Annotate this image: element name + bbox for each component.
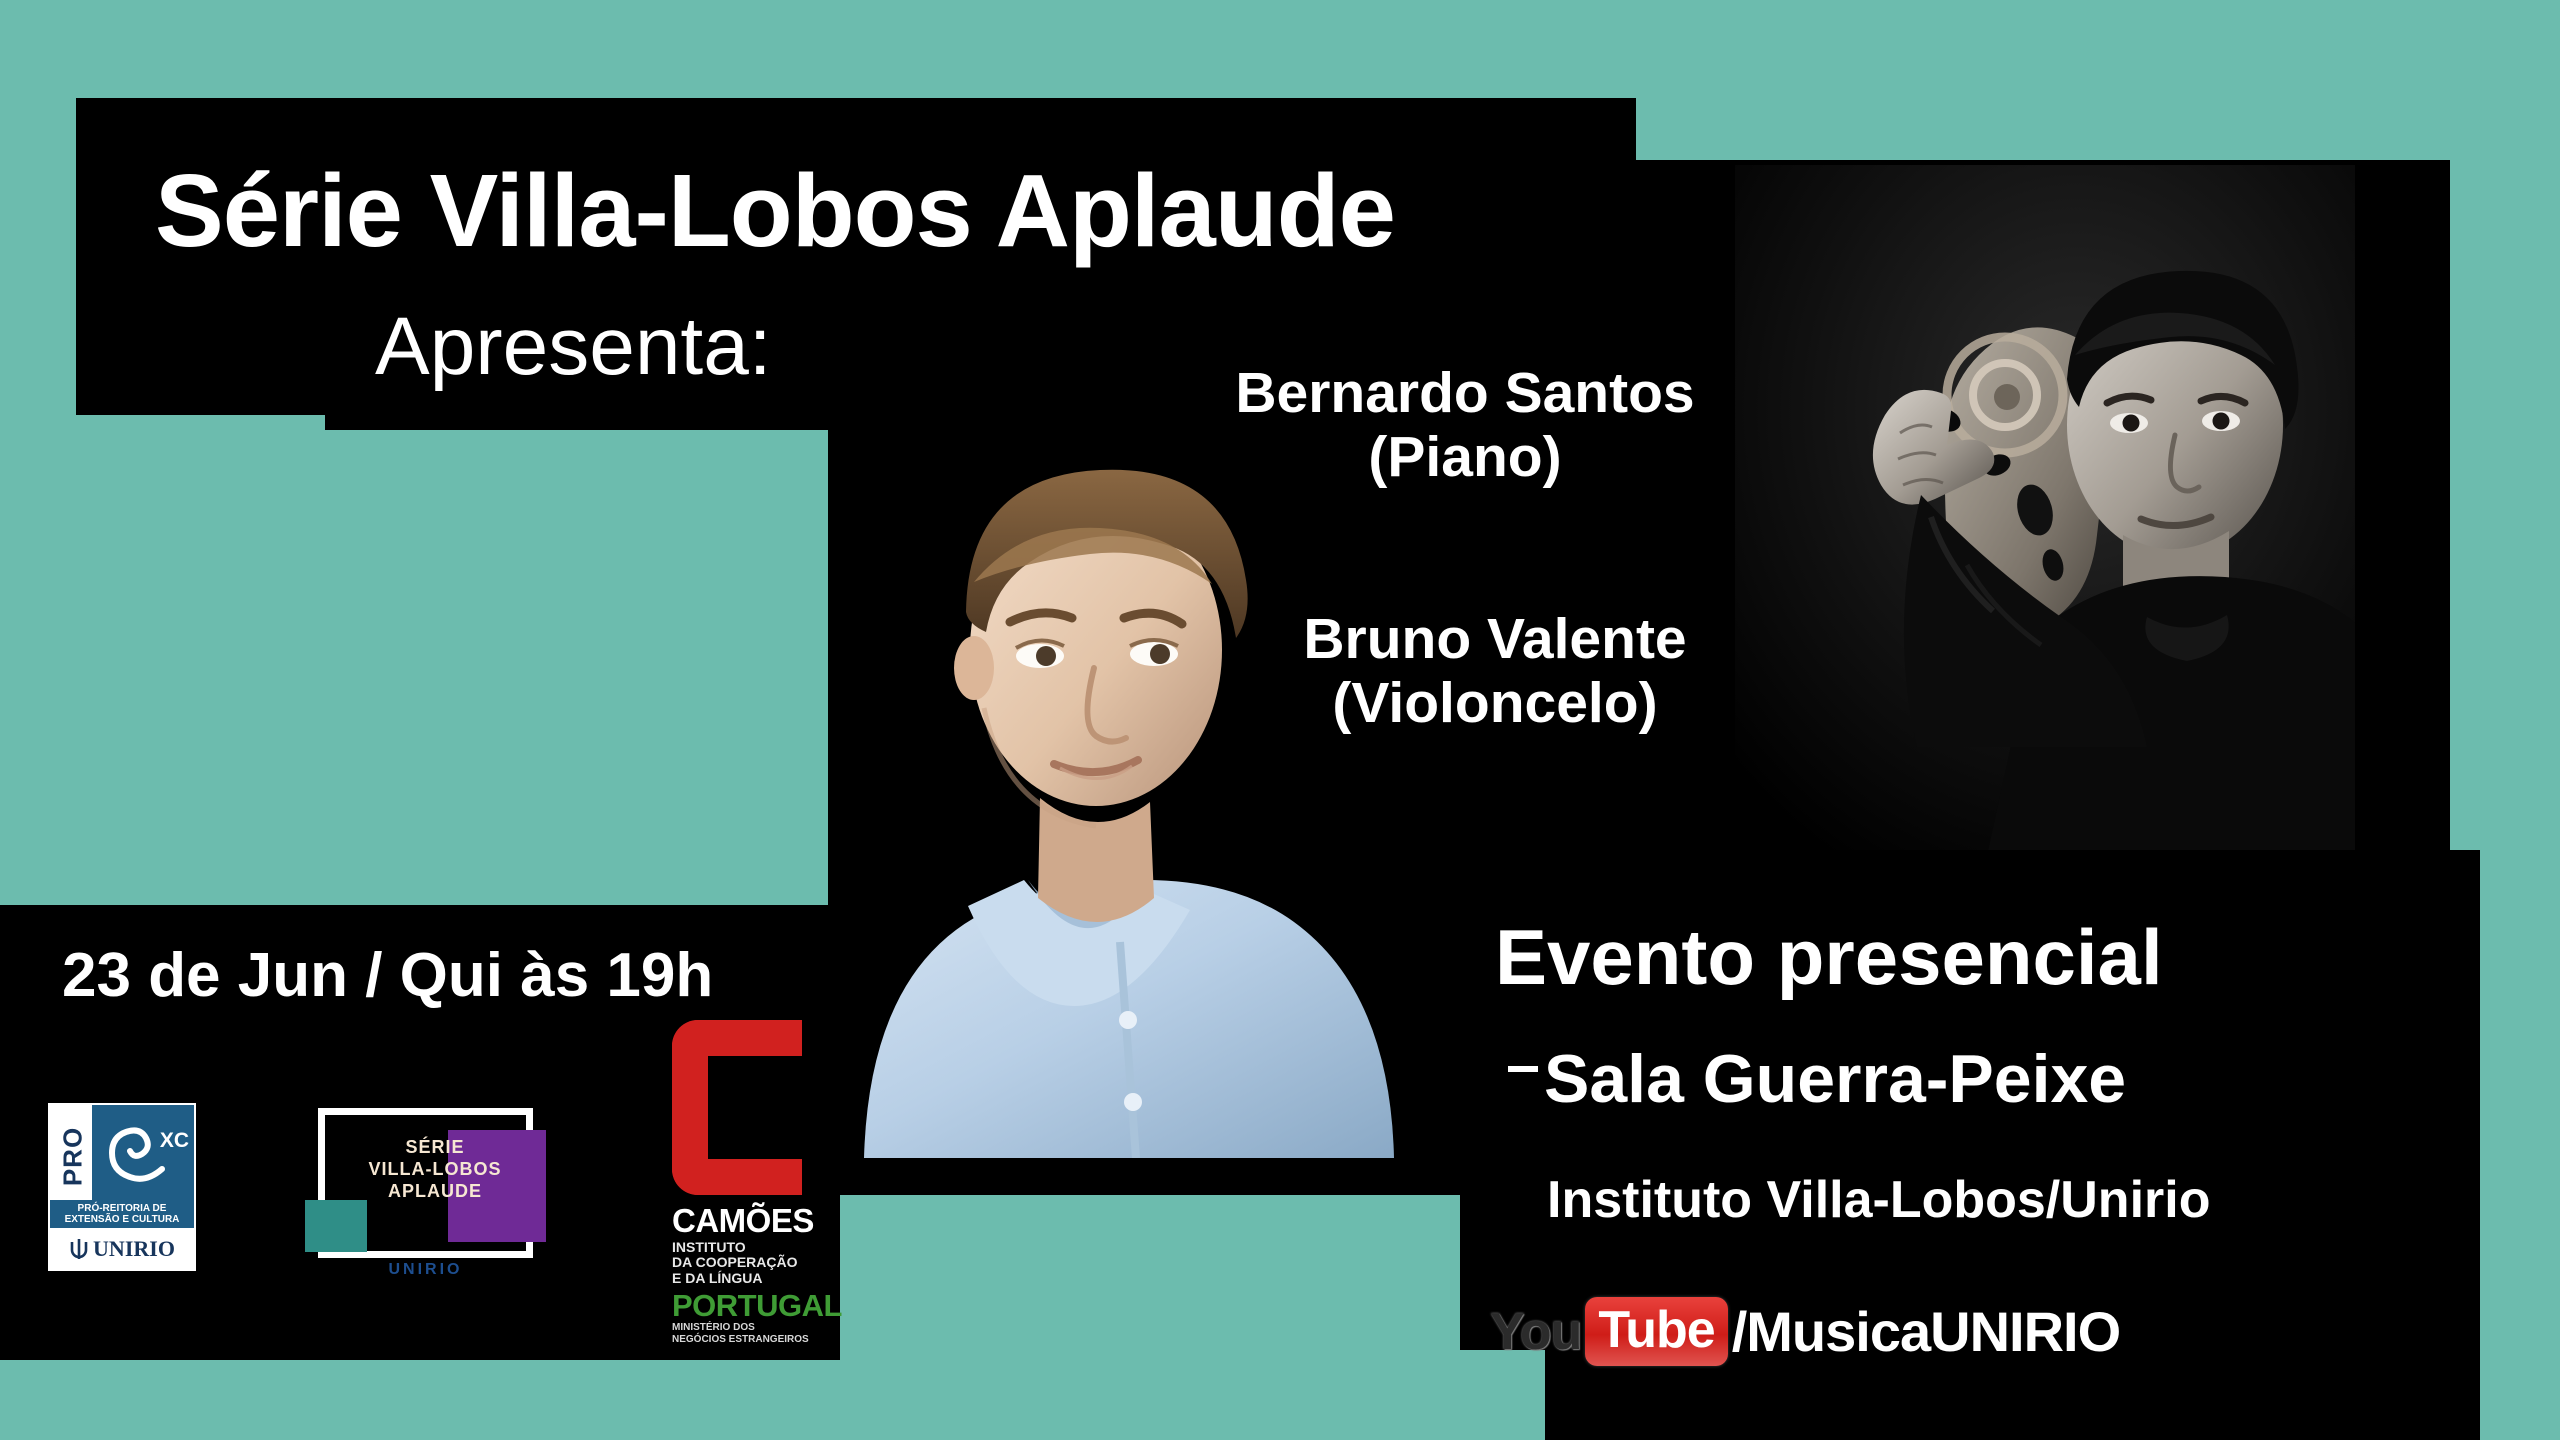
cellist-portrait-illustration <box>1735 165 2355 865</box>
venue-name: Sala Guerra-Peixe <box>1544 1040 2126 1118</box>
proexc-subtitle-line1: PRÓ-REITORIA DE <box>51 1203 193 1214</box>
event-date: 23 de Jun / Qui às 19h <box>62 940 713 1011</box>
youtube-handle: /MusicaUNIRIO <box>1732 1299 2120 1364</box>
youtube-tube-text: Tube <box>1598 1301 1714 1359</box>
proexc-spiral-block: XC <box>92 1105 194 1200</box>
institution-name: Instituto Villa-Lobos/Unirio <box>1547 1170 2210 1230</box>
proexc-subtitle-line2: EXTENSÃO E CULTURA <box>51 1214 193 1225</box>
proexc-xc-text: XC <box>160 1129 189 1153</box>
proexc-pro-block: PRO <box>50 1105 92 1200</box>
camoes-c-mark <box>672 1020 802 1195</box>
serie-teal-block <box>305 1200 367 1252</box>
performer-1-instrument: (Piano) <box>1155 426 1775 490</box>
camoes-ministry-line1: MINISTÉRIO DOS <box>672 1322 809 1334</box>
youtube-icon: Tube <box>1585 1297 1727 1366</box>
serie-villa-lobos-aplaude-logo: SÉRIE VILLA-LOBOS APLAUDE UNIRIO <box>305 1103 563 1283</box>
camoes-name: CAMÕES <box>672 1202 814 1240</box>
performer-1-label: Bernardo Santos (Piano) <box>1155 362 1775 490</box>
serie-logo-university: UNIRIO <box>318 1261 533 1279</box>
trident-icon <box>69 1238 89 1260</box>
camoes-country: PORTUGAL <box>672 1288 842 1324</box>
proexc-unirio-logo: PRO XC PRÓ-REITORIA DE EXTENSÃO E CULTUR… <box>48 1103 196 1271</box>
performer-2-name: Bruno Valente <box>1185 608 1805 672</box>
serie-logo-text: SÉRIE VILLA-LOBOS APLAUDE <box>325 1137 545 1203</box>
proexc-university-text: UNIRIO <box>93 1236 175 1262</box>
proexc-pro-text: PRO <box>58 1117 89 1197</box>
proexc-subtitle: PRÓ-REITORIA DE EXTENSÃO E CULTURA <box>50 1200 194 1228</box>
youtube-you-text: You <box>1490 1302 1581 1362</box>
camoes-ministry: MINISTÉRIO DOS NEGÓCIOS ESTRANGEIROS <box>672 1322 809 1345</box>
youtube-channel-link[interactable]: You Tube /MusicaUNIRIO <box>1490 1297 2120 1366</box>
serie-logo-line2: VILLA-LOBOS <box>325 1159 545 1181</box>
venue-dash-icon <box>1508 1066 1538 1072</box>
event-mode: Evento presencial <box>1495 912 2163 1003</box>
event-poster: Bernardo Santos (Piano) Bruno Valente (V… <box>0 0 2560 1440</box>
performer-2-instrument: (Violoncelo) <box>1185 672 1805 736</box>
camoes-ministry-line2: NEGÓCIOS ESTRANGEIROS <box>672 1334 809 1346</box>
camoes-subtitle: INSTITUTO DA COOPERAÇÃO E DA LÍNGUA <box>672 1240 798 1286</box>
proexc-logo-mark: PRO XC <box>50 1105 194 1200</box>
proexc-university: UNIRIO <box>50 1228 194 1269</box>
camoes-subtitle-line3: E DA LÍNGUA <box>672 1271 798 1286</box>
serie-logo-line1: SÉRIE <box>325 1137 545 1159</box>
venue-row: Sala Guerra-Peixe <box>1508 1040 2126 1118</box>
performer-2-label: Bruno Valente (Violoncelo) <box>1185 608 1805 736</box>
serie-logo-line3: APLAUDE <box>325 1181 545 1203</box>
camoes-subtitle-line2: DA COOPERAÇÃO <box>672 1255 798 1270</box>
presents-label: Apresenta: <box>375 300 772 394</box>
bruno-valente-photo <box>1735 165 2355 865</box>
title-panel-extension <box>76 290 326 415</box>
camoes-institute-logo: CAMÕES INSTITUTO DA COOPERAÇÃO E DA LÍNG… <box>660 1020 820 1350</box>
performer-1-name: Bernardo Santos <box>1155 362 1775 426</box>
page-title: Série Villa-Lobos Aplaude <box>155 152 1395 270</box>
